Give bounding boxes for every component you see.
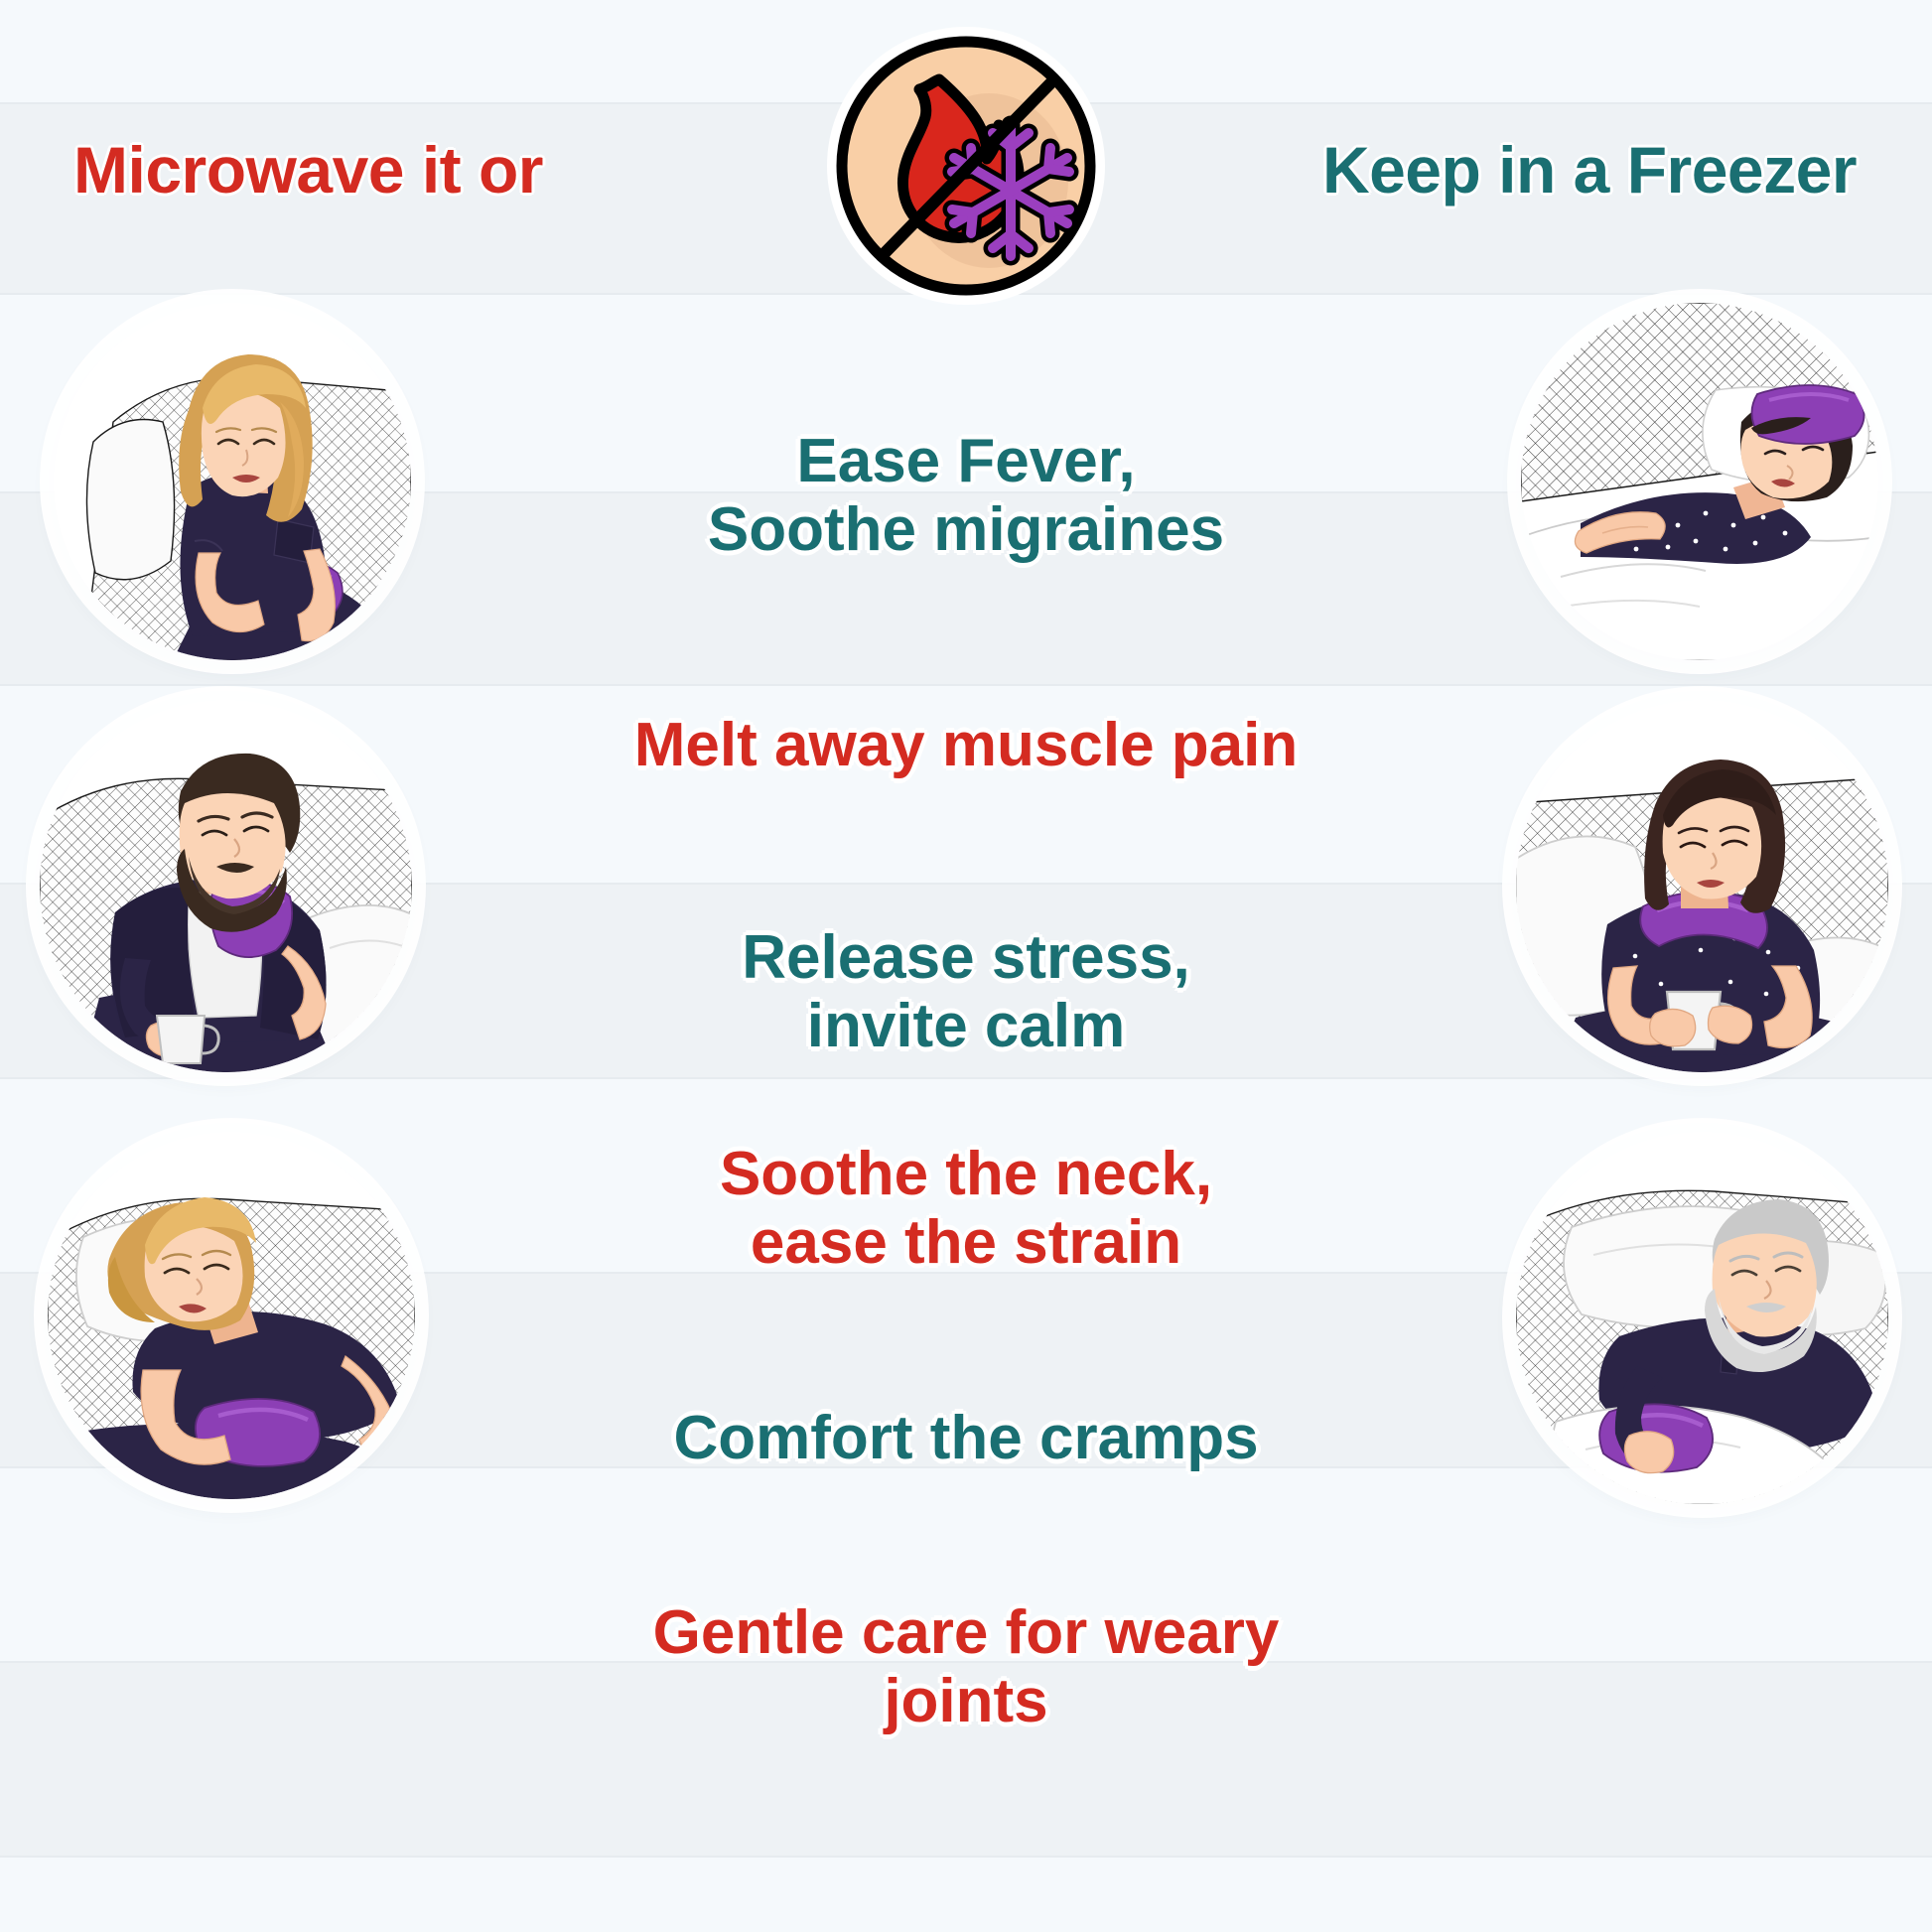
no-fire-no-freeze-icon bbox=[822, 22, 1110, 310]
illustration-woman-head-cold bbox=[1521, 303, 1878, 660]
band bbox=[0, 1467, 1932, 1662]
infographic-poster: Microwave it or Keep in a Freezer bbox=[0, 0, 1932, 1932]
illustration-woman-abdomen bbox=[48, 1132, 415, 1499]
illustration-woman-neck-mug bbox=[1516, 700, 1888, 1072]
no-fire-no-freeze-badge bbox=[822, 22, 1110, 310]
photo-older-man-knee bbox=[1516, 1132, 1888, 1504]
photo-woman-head-cold bbox=[1521, 303, 1878, 660]
illustration-older-man-knee bbox=[1516, 1132, 1888, 1504]
band bbox=[0, 1662, 1932, 1857]
photo-woman-knee-heat bbox=[54, 303, 411, 660]
band bbox=[0, 1857, 1932, 1932]
illustration-bearded-man-neck bbox=[40, 700, 412, 1072]
photo-woman-neck-mug bbox=[1516, 700, 1888, 1072]
band-divider bbox=[0, 684, 1932, 686]
header-title-right: Keep in a Freezer bbox=[1322, 132, 1857, 207]
band-divider bbox=[0, 1661, 1932, 1663]
photo-bearded-man-neck bbox=[40, 700, 412, 1072]
illustration-woman-knee-heat bbox=[54, 303, 411, 660]
band-divider bbox=[0, 1077, 1932, 1079]
band-divider bbox=[0, 1856, 1932, 1858]
photo-woman-abdomen bbox=[48, 1132, 415, 1499]
header-title-left: Microwave it or bbox=[73, 132, 543, 207]
